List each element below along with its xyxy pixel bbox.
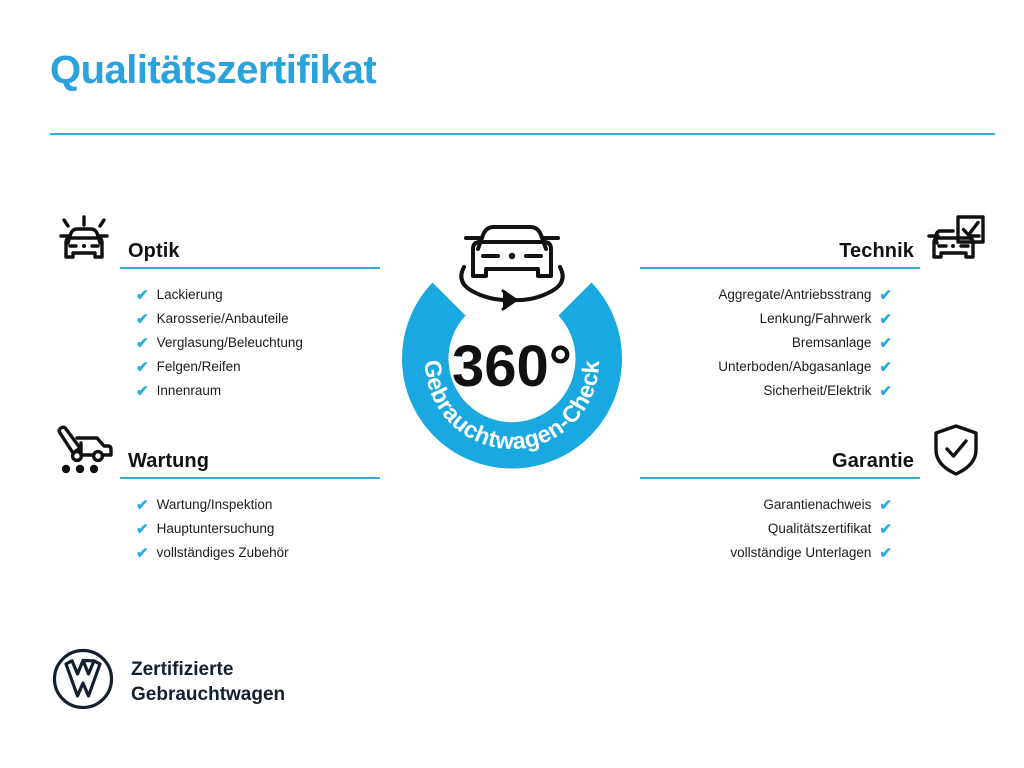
section-rule-garantie	[640, 477, 920, 479]
list-item: ✔Bremsanlage	[792, 331, 892, 355]
list-item-label: Lenkung/Fahrwerk	[760, 307, 872, 331]
list-item: ✔Verglasung/Beleuchtung	[136, 331, 380, 355]
service-car-tool-icon	[48, 419, 120, 481]
list-item: ✔Innenraum	[136, 379, 380, 403]
check-icon: ✔	[879, 336, 892, 351]
footer-brand-text: Zertifizierte Gebrauchtwagen	[131, 657, 285, 707]
section-technik: Technik ✔Aggregate/Antriebsstrang ✔Lenku…	[640, 205, 992, 403]
checklist-technik: ✔Aggregate/Antriebsstrang ✔Lenkung/Fahrw…	[640, 271, 992, 403]
list-item-label: Aggregate/Antriebsstrang	[718, 283, 871, 307]
section-optik: Optik ✔Lackierung ✔Karosserie/Anbauteile…	[48, 205, 380, 403]
check-icon: ✔	[136, 546, 149, 561]
check-icon: ✔	[879, 546, 892, 561]
check-icon: ✔	[136, 336, 149, 351]
list-item: ✔Felgen/Reifen	[136, 355, 380, 379]
check-icon: ✔	[136, 312, 149, 327]
check-icon: ✔	[879, 312, 892, 327]
header-divider	[50, 133, 995, 135]
car-checkbox-icon	[920, 209, 992, 271]
list-item-label: Felgen/Reifen	[157, 355, 241, 379]
list-item-label: vollständige Unterlagen	[730, 541, 871, 565]
check-icon: ✔	[879, 288, 892, 303]
section-title-garantie: Garantie	[640, 450, 920, 477]
section-rule-wartung	[120, 477, 380, 479]
list-item-label: Unterboden/Abgasanlage	[718, 355, 871, 379]
page-title: Qualitätszertifikat	[50, 48, 376, 93]
checklist-optik: ✔Lackierung ✔Karosserie/Anbauteile ✔Verg…	[48, 271, 380, 403]
vw-logo	[52, 648, 114, 715]
list-item-label: Innenraum	[157, 379, 222, 403]
list-item-label: vollständiges Zubehör	[157, 541, 289, 565]
list-item-label: Wartung/Inspektion	[157, 493, 273, 517]
check-icon: ✔	[879, 384, 892, 399]
shield-check-icon	[920, 419, 992, 481]
list-item: ✔vollständiges Zubehör	[136, 541, 380, 565]
list-item: ✔Unterboden/Abgasanlage	[718, 355, 892, 379]
list-item: ✔vollständige Unterlagen	[730, 541, 892, 565]
section-title-wartung: Wartung	[120, 450, 380, 477]
checklist-wartung: ✔Wartung/Inspektion ✔Hauptuntersuchung ✔…	[48, 481, 380, 565]
check-icon: ✔	[136, 522, 149, 537]
list-item: ✔Wartung/Inspektion	[136, 493, 380, 517]
section-rule-technik	[640, 267, 920, 269]
list-item: ✔Qualitätszertifikat	[768, 517, 892, 541]
footer-line-1: Zertifizierte	[131, 657, 285, 682]
list-item-label: Karosserie/Anbauteile	[157, 307, 289, 331]
list-item-label: Bremsanlage	[792, 331, 872, 355]
badge-360-gebrauchtwagen-check: 360° Gebrauchtwagen-Check	[372, 196, 652, 486]
list-item-label: Hauptuntersuchung	[157, 517, 275, 541]
section-rule-optik	[120, 267, 380, 269]
list-item: ✔Lackierung	[136, 283, 380, 307]
car-front-shine-icon	[48, 209, 120, 271]
list-item-label: Qualitätszertifikat	[768, 517, 872, 541]
section-title-optik: Optik	[120, 240, 380, 267]
section-garantie: Garantie ✔Garantienachweis ✔Qualitätszer…	[640, 415, 992, 565]
section-title-technik: Technik	[640, 240, 920, 267]
check-icon: ✔	[879, 498, 892, 513]
list-item: ✔Sicherheit/Elektrik	[763, 379, 892, 403]
car-rotate-icon	[461, 227, 562, 309]
list-item-label: Sicherheit/Elektrik	[763, 379, 871, 403]
list-item: ✔Karosserie/Anbauteile	[136, 307, 380, 331]
section-wartung: Wartung ✔Wartung/Inspektion ✔Hauptunters…	[48, 415, 380, 565]
list-item: ✔Garantienachweis	[763, 493, 892, 517]
check-icon: ✔	[879, 360, 892, 375]
list-item-label: Verglasung/Beleuchtung	[157, 331, 303, 355]
list-item: ✔Aggregate/Antriebsstrang	[718, 283, 892, 307]
footer-line-2: Gebrauchtwagen	[131, 682, 285, 707]
footer-brand: Zertifizierte Gebrauchtwagen	[52, 648, 285, 715]
list-item-label: Garantienachweis	[763, 493, 871, 517]
list-item: ✔Lenkung/Fahrwerk	[760, 307, 892, 331]
check-icon: ✔	[136, 360, 149, 375]
check-icon: ✔	[136, 288, 149, 303]
check-icon: ✔	[136, 498, 149, 513]
list-item-label: Lackierung	[157, 283, 223, 307]
badge-center-label: 360°	[452, 334, 572, 399]
checklist-garantie: ✔Garantienachweis ✔Qualitätszertifikat ✔…	[640, 481, 992, 565]
list-item: ✔Hauptuntersuchung	[136, 517, 380, 541]
check-icon: ✔	[879, 522, 892, 537]
check-icon: ✔	[136, 384, 149, 399]
